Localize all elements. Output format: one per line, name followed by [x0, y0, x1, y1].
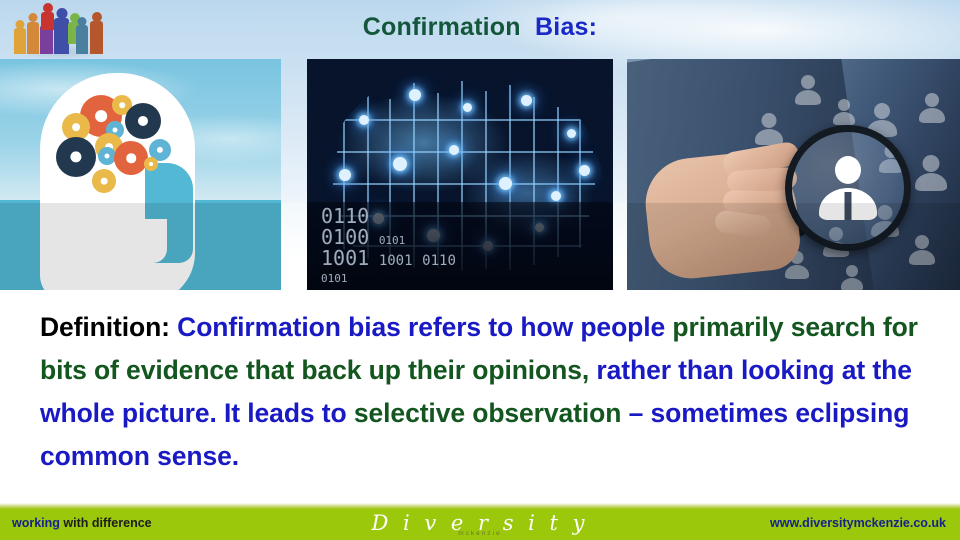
magnifier-lens: [792, 132, 904, 244]
head-chin: [137, 219, 167, 263]
binary-line-4: 1001: [321, 246, 369, 270]
binary-line-7: 0101: [321, 272, 348, 285]
gear-icon: [114, 141, 148, 175]
gear-icon: [144, 157, 158, 171]
magnified-person-icon: [819, 156, 877, 220]
footer-bar: working with difference D i v e r s i t …: [0, 509, 960, 540]
gear-icon: [56, 137, 96, 177]
person-silhouette-icon: [795, 75, 821, 105]
definition-segment-blue-1: Confirmation bias refers to how people: [177, 312, 665, 342]
magnifying-glass-people-image: [627, 59, 960, 290]
presentation-slide: Confirmation Bias:: [0, 0, 960, 540]
gear-icon: [92, 169, 116, 193]
website-link[interactable]: www.diversitymckenzie.co.uk: [770, 516, 946, 530]
brand-logo-subtitle: mckenzie: [0, 530, 960, 537]
definition-segment-green-2: selective observation: [354, 398, 621, 428]
person-silhouette-icon: [833, 99, 855, 125]
title-part-confirmation: Confirmation: [363, 13, 521, 41]
person-silhouette-icon: [841, 265, 863, 290]
person-silhouette-icon: [755, 113, 783, 145]
person-silhouette-icon: [915, 155, 947, 191]
binary-digits-overlay: 0110 0100 0101 1001 1001 0110 0101: [321, 206, 456, 286]
slide-title: Confirmation Bias:: [0, 12, 960, 42]
digital-circuit-brain-image: 0110 0100 0101 1001 1001 0110 0101: [307, 59, 613, 290]
title-part-bias: Bias:: [535, 13, 597, 41]
definition-label: Definition:: [40, 312, 170, 342]
binary-line-3: 0101: [379, 234, 406, 247]
binary-line-5: 1001: [379, 253, 413, 269]
gear-icon: [125, 103, 161, 139]
person-silhouette-icon: [919, 93, 945, 123]
head-with-gears-image: [0, 59, 281, 290]
binary-line-6: 0110: [422, 253, 456, 269]
definition-text: Definition: Confirmation bias refers to …: [40, 306, 930, 478]
person-silhouette-icon: [909, 235, 935, 265]
magnifying-glass-icon: [785, 125, 911, 251]
